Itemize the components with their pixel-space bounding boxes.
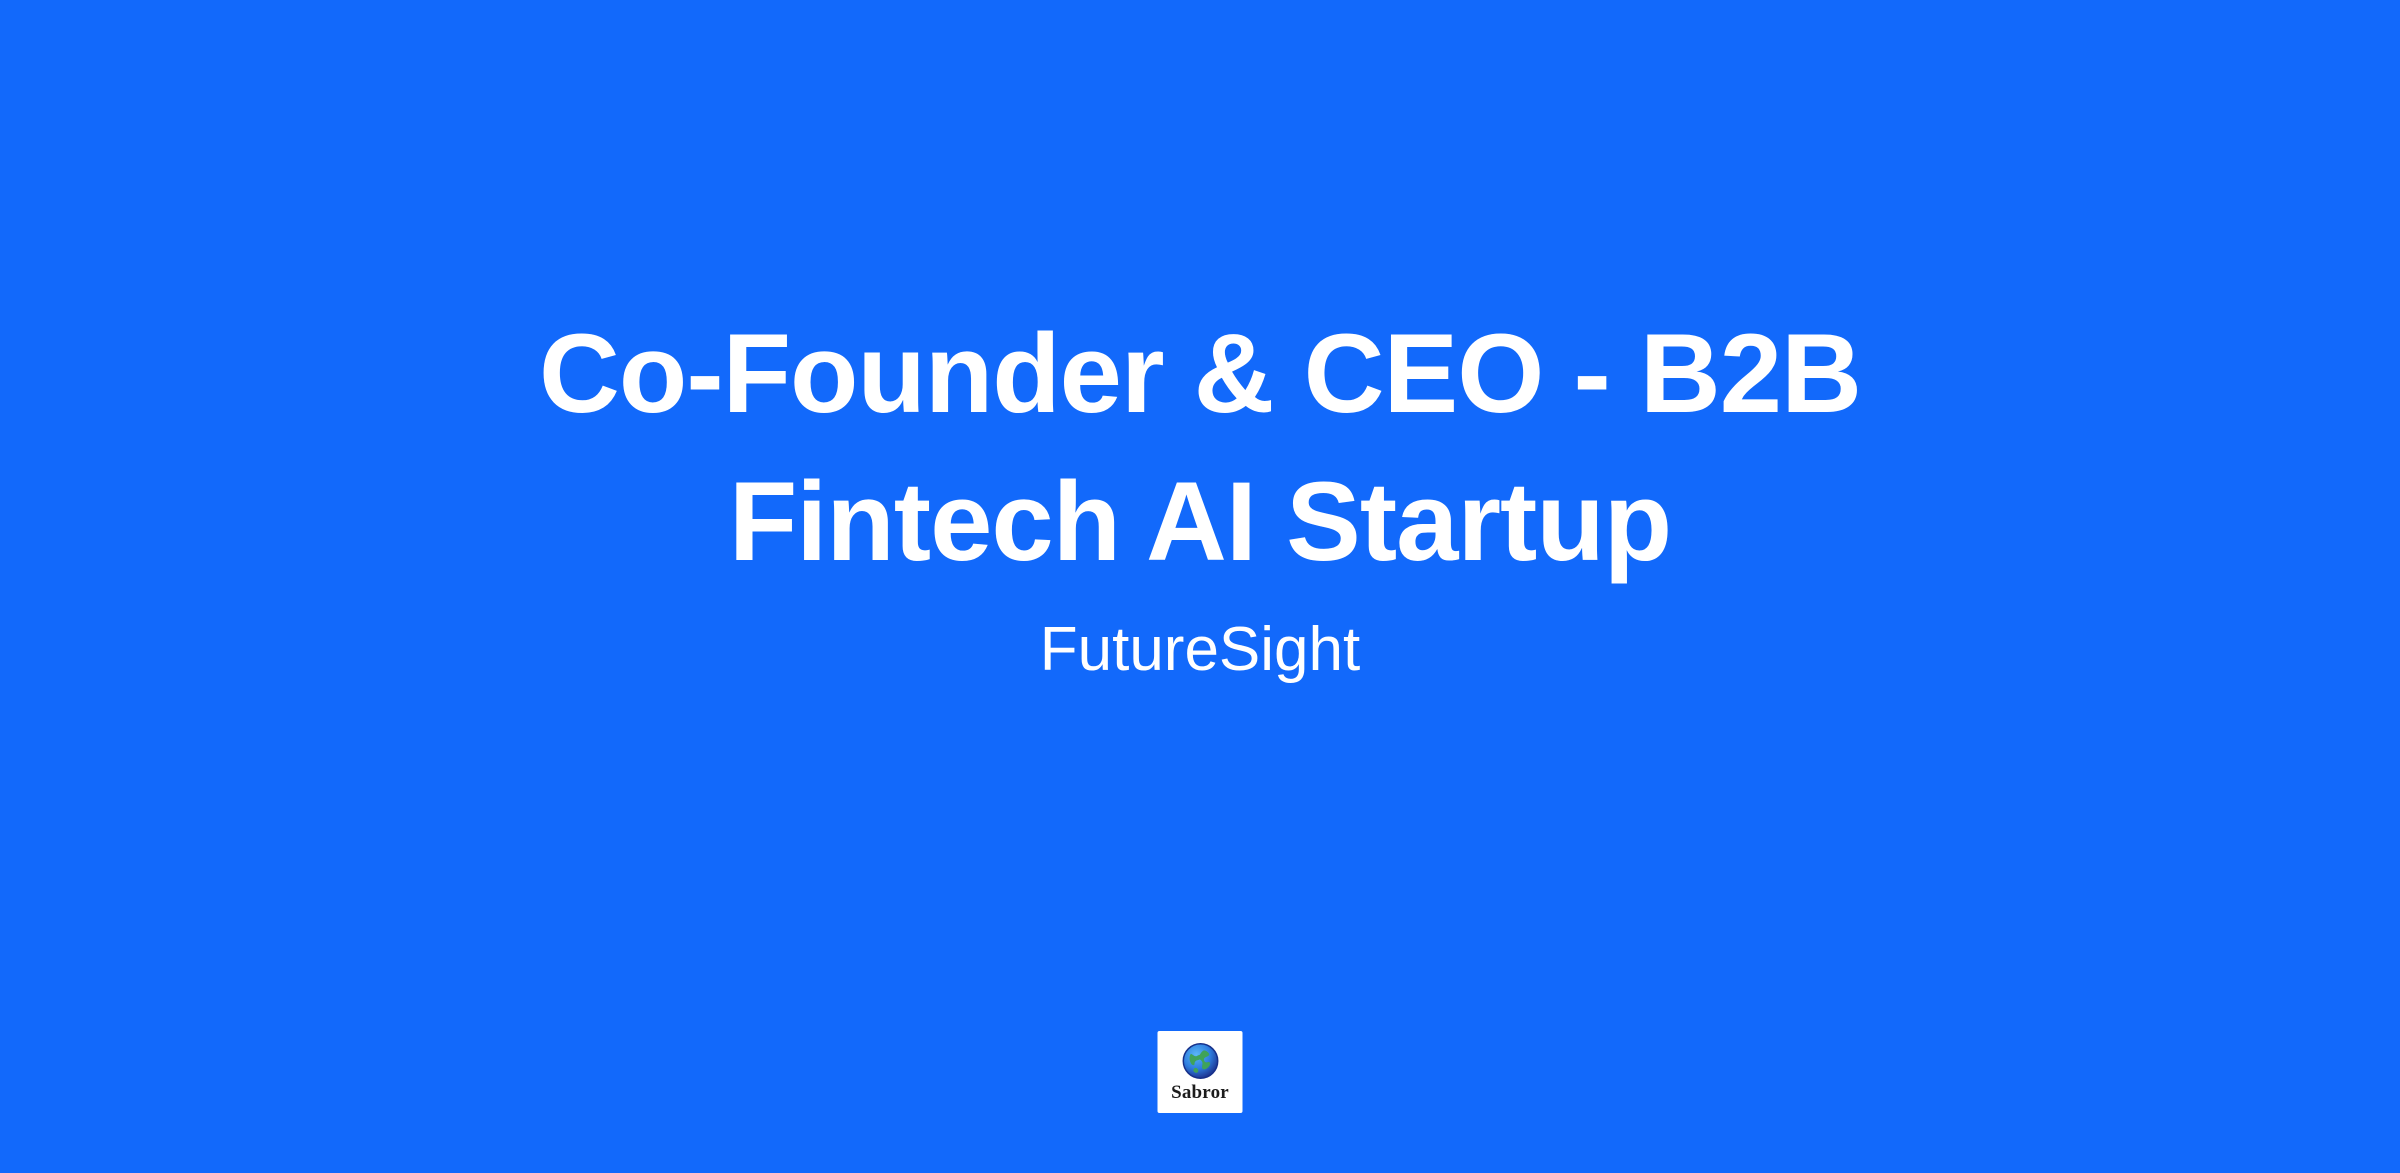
brand-name-label: Sabror xyxy=(1171,1083,1229,1102)
brand-logo[interactable]: Sabror xyxy=(1158,1031,1243,1113)
page-title: Co-Founder & CEO - B2B Fintech AI Startu… xyxy=(450,300,1950,596)
hero-text-block: Co-Founder & CEO - B2B Fintech AI Startu… xyxy=(0,300,2400,690)
company-subtitle: FutureSight xyxy=(1040,610,1361,691)
slide-canvas: Co-Founder & CEO - B2B Fintech AI Startu… xyxy=(0,0,2400,1173)
globe-icon xyxy=(1181,1041,1219,1081)
